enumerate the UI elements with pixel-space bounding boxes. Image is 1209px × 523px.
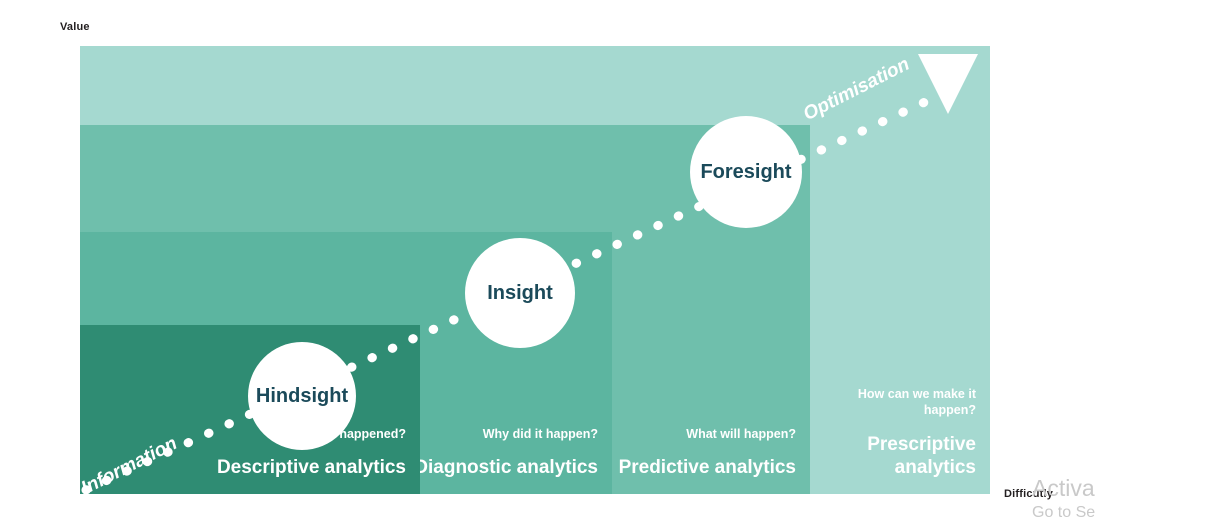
column-prescriptive-analytics[interactable]: How can we make it happen? Prescriptive … (810, 46, 990, 494)
node-foresight[interactable]: Foresight (690, 116, 802, 228)
column-predictive-text: What will happen? Predictive analytics (619, 427, 796, 480)
column-predictive-question: What will happen? (619, 427, 796, 443)
column-diagnostic-text: Why did it happen? Diagnostic analytics (420, 427, 598, 480)
plot-area: What happened? Descriptive analytics Why… (80, 46, 990, 494)
node-hindsight[interactable]: Hindsight (248, 342, 356, 450)
windows-activation-watermark: Activa Go to Se (1032, 474, 1095, 523)
column-prescriptive-question: How can we make it happen? (846, 387, 976, 418)
watermark-line-1: Activa (1032, 474, 1095, 503)
analytics-maturity-diagram: Value What happened? Descriptive analyti… (0, 0, 1209, 514)
column-prescriptive-title: Prescriptive analytics (846, 433, 976, 481)
column-diagnostic-question: Why did it happen? (420, 427, 598, 443)
column-predictive-title: Predictive analytics (619, 456, 796, 480)
watermark-line-2: Go to Se (1032, 503, 1095, 523)
node-insight-label: Insight (487, 282, 553, 305)
node-insight[interactable]: Insight (465, 238, 575, 348)
y-axis-label: Value (60, 21, 90, 33)
column-prescriptive-text: How can we make it happen? Prescriptive … (846, 387, 976, 480)
column-diagnostic-title: Diagnostic analytics (420, 456, 598, 480)
column-descriptive-title: Descriptive analytics (217, 456, 406, 480)
node-foresight-label: Foresight (700, 161, 791, 184)
node-hindsight-label: Hindsight (256, 385, 348, 408)
